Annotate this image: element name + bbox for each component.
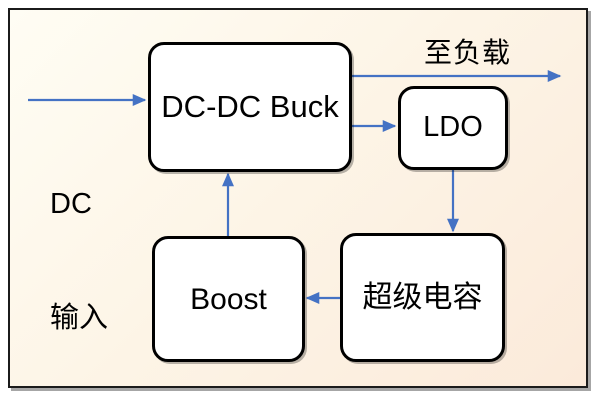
block-ldo-label: LDO <box>423 112 483 144</box>
block-boost-label: Boost <box>190 283 267 316</box>
label-dc-input: DC 输入 <box>50 108 108 414</box>
block-dc-dc-buck-label: DC-DC Buck <box>161 90 338 124</box>
label-dc-input-line1: DC <box>50 185 108 223</box>
label-to-load: 至负载 <box>424 31 511 71</box>
block-supercapacitor-label: 超级电容 <box>363 281 483 314</box>
block-supercapacitor[interactable]: 超级电容 <box>340 233 505 362</box>
block-boost[interactable]: Boost <box>152 236 305 362</box>
block-dc-dc-buck[interactable]: DC-DC Buck <box>148 42 352 172</box>
block-ldo[interactable]: LDO <box>398 86 508 170</box>
label-dc-input-line2: 输入 <box>50 299 108 337</box>
diagram-canvas: DC-DC Buck LDO Boost 超级电容 DC 输入 至负载 <box>0 0 600 400</box>
